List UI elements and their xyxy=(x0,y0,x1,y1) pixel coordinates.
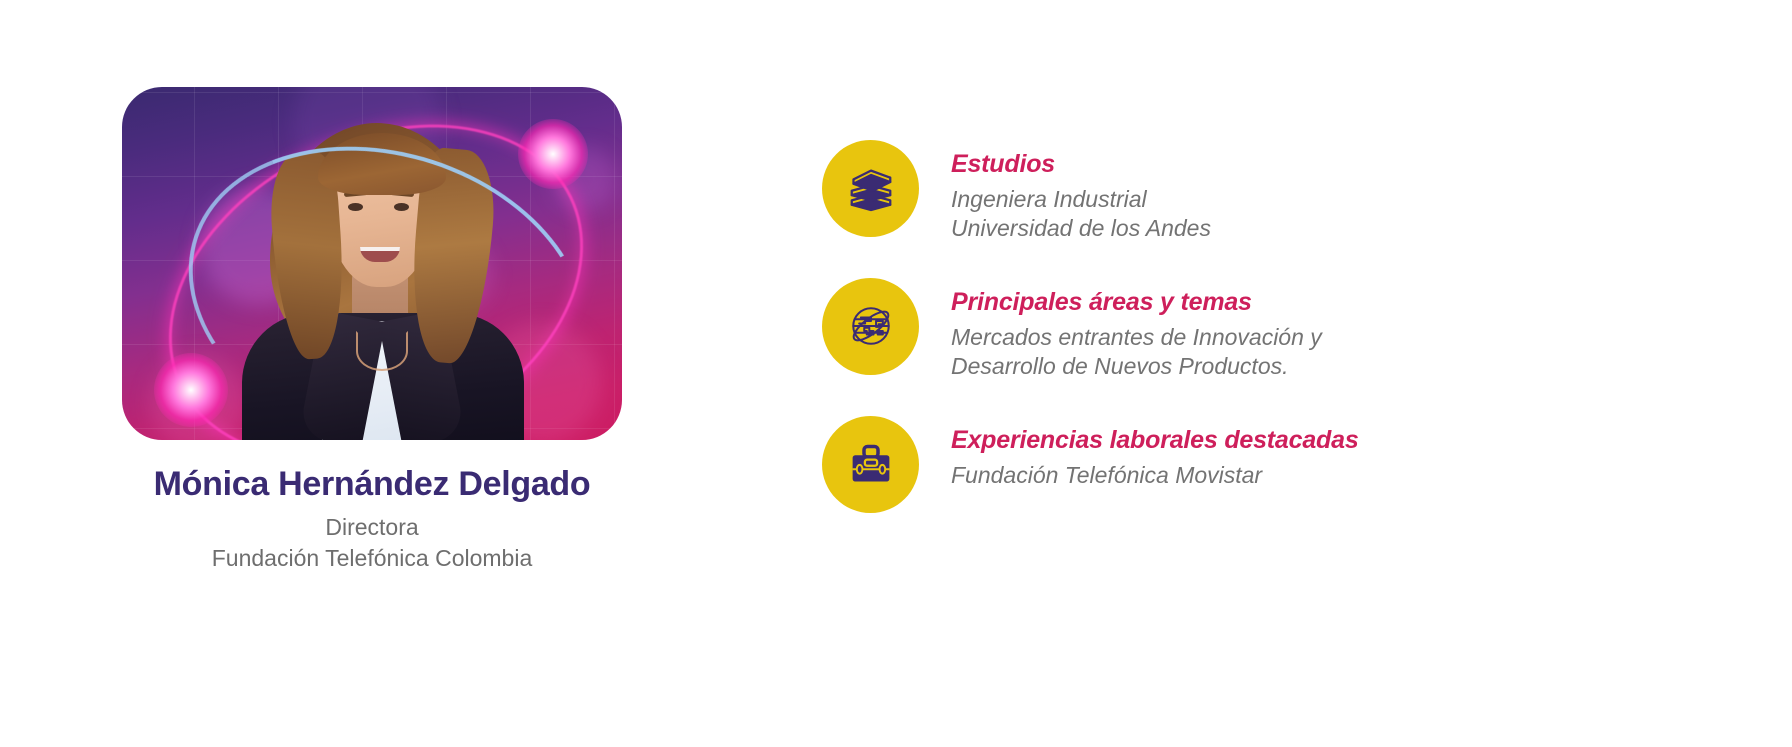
speaker-role: Directora xyxy=(122,512,622,543)
info-body: Fundación Telefónica Movistar xyxy=(951,461,1359,490)
orbit-glow-dot xyxy=(154,353,228,427)
speaker-profile-slide: Mónica Hernández Delgado Directora Funda… xyxy=(0,0,1792,747)
books-icon-badge xyxy=(822,140,919,237)
info-text-block: Estudios Ingeniera Industrial Universida… xyxy=(951,140,1211,244)
info-body: Mercados entrantes de Innovación y Desar… xyxy=(951,323,1322,382)
info-heading: Experiencias laborales destacadas xyxy=(951,425,1359,455)
briefcase-icon xyxy=(843,436,899,492)
info-row-experiencias: Experiencias laborales destacadas Fundac… xyxy=(822,416,1722,513)
info-row-estudios: Estudios Ingeniera Industrial Universida… xyxy=(822,140,1722,244)
briefcase-icon-badge xyxy=(822,416,919,513)
info-heading: Principales áreas y temas xyxy=(951,287,1322,317)
info-column: Estudios Ingeniera Industrial Universida… xyxy=(822,140,1722,547)
speaker-photo-card xyxy=(122,87,622,440)
speaker-name: Mónica Hernández Delgado xyxy=(122,466,622,503)
profile-column: Mónica Hernández Delgado Directora Funda… xyxy=(122,87,622,574)
info-text-block: Principales áreas y temas Mercados entra… xyxy=(951,278,1322,382)
info-row-areas-temas: Principales áreas y temas Mercados entra… xyxy=(822,278,1722,382)
globe-orbit-icon xyxy=(844,299,898,353)
speaker-organization: Fundación Telefónica Colombia xyxy=(122,543,622,574)
globe-orbit-icon-badge xyxy=(822,278,919,375)
books-icon xyxy=(843,161,899,217)
info-text-block: Experiencias laborales destacadas Fundac… xyxy=(951,416,1359,490)
info-body: Ingeniera Industrial Universidad de los … xyxy=(951,185,1211,244)
info-heading: Estudios xyxy=(951,149,1211,179)
